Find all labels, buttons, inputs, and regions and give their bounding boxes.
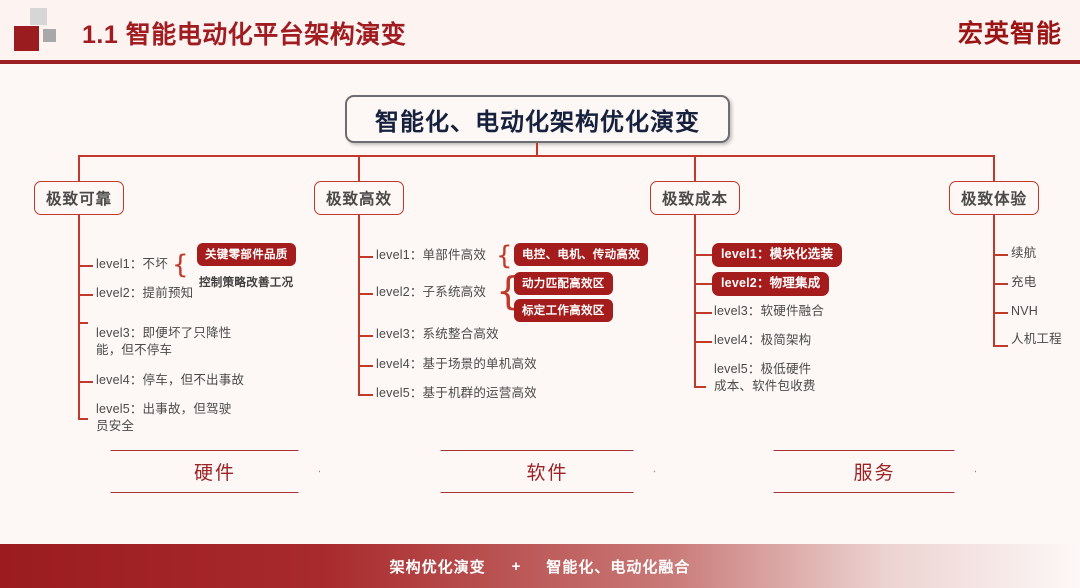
- category-label-experience: 极致体验: [961, 187, 1027, 209]
- category-label-efficiency: 极致高效: [326, 187, 392, 209]
- category-label-reliability: 极致可靠: [46, 187, 112, 209]
- root-title-label: 智能化、电动化架构优化演变: [375, 102, 700, 137]
- tick-x1: [993, 254, 1008, 256]
- annotation-badge-powertrain-zone[interactable]: 动力匹配高效区: [514, 272, 613, 295]
- connector-stem-1: [78, 215, 80, 243]
- level-item-e2[interactable]: level2：子系统高效: [376, 284, 486, 301]
- brace-efficiency-1-icon: {: [496, 243, 513, 269]
- category-box-efficiency[interactable]: 极致高效: [314, 181, 404, 215]
- level-item-c1[interactable]: level1：模块化选装: [712, 243, 842, 267]
- tick-x2: [993, 283, 1008, 285]
- tick-c3: [694, 312, 712, 314]
- category-box-reliability[interactable]: 极致可靠: [34, 181, 124, 215]
- tick-e3: [358, 335, 373, 337]
- tick-r5: [78, 418, 88, 420]
- tick-r2: [78, 294, 93, 296]
- tick-e4: [358, 365, 373, 367]
- tick-e2: [358, 293, 373, 295]
- tick-e1: [358, 256, 373, 258]
- tick-r4: [78, 381, 93, 383]
- level-item-c5[interactable]: level5：极低硬件 成本、软件包收费: [714, 361, 816, 395]
- level-item-r5[interactable]: level5：出事故，但驾驶 员安全: [96, 401, 231, 435]
- tick-c4: [694, 341, 712, 343]
- level-item-e1[interactable]: level1：单部件高效: [376, 247, 486, 264]
- column-spine-reliability: [78, 243, 80, 418]
- category-box-cost[interactable]: 极致成本: [650, 181, 740, 215]
- level-item-r4[interactable]: level4：停车，但不出事故: [96, 372, 244, 389]
- level-item-x4[interactable]: 人机工程: [1011, 331, 1062, 348]
- level-item-r1[interactable]: level1：不坏: [96, 256, 168, 273]
- level-item-e4[interactable]: level4：基于场景的单机高效: [376, 356, 537, 373]
- column-spine-experience: [993, 243, 995, 346]
- category-label-cost: 极致成本: [662, 187, 728, 209]
- tick-x4: [993, 345, 1008, 347]
- level-item-e3[interactable]: level3：系统整合高效: [376, 326, 499, 343]
- connector-drop-4: [993, 155, 995, 182]
- connector-stem-2: [358, 215, 360, 243]
- chevron-hardware[interactable]: 硬件: [110, 450, 320, 493]
- column-spine-efficiency: [358, 243, 360, 395]
- tick-x3: [993, 312, 1008, 314]
- level-item-c2[interactable]: level2：物理集成: [712, 272, 829, 296]
- column-spine-cost: [694, 243, 696, 386]
- tick-c1: [694, 254, 712, 256]
- level-item-c3[interactable]: level3：软硬件融合: [714, 303, 824, 320]
- footer-text-left: 架构优化演变: [390, 556, 486, 577]
- category-box-experience[interactable]: 极致体验: [949, 181, 1039, 215]
- tick-r3: [78, 322, 88, 324]
- brand-logo: 宏英智能: [958, 14, 1062, 50]
- slide-canvas: 1.1 智能电动化平台架构演变 宏英智能 智能化、电动化架构优化演变 极致可靠 …: [0, 0, 1080, 588]
- level-item-x3[interactable]: NVH: [1011, 303, 1038, 320]
- footer-plus-sign: +: [512, 558, 521, 575]
- annotation-badge-calibration-zone[interactable]: 标定工作高效区: [514, 299, 613, 322]
- brace-reliability-icon: {: [172, 252, 189, 278]
- level-item-e5[interactable]: level5：基于机群的运营高效: [376, 385, 537, 402]
- connector-drop-3: [694, 155, 696, 182]
- chevron-label-software: 软件: [526, 458, 568, 485]
- annotation-text-control-strategy: 控制策略改善工况: [199, 274, 293, 290]
- decor-square-red-icon: [14, 26, 39, 51]
- connector-drop-1: [78, 155, 80, 182]
- footer-content: 架构优化演变 + 智能化、电动化融合: [0, 544, 1080, 588]
- connector-stem-4: [993, 215, 995, 243]
- decor-square-light-icon: [30, 8, 47, 25]
- header-divider: [0, 60, 1080, 64]
- connector-stem-3: [694, 215, 696, 243]
- chevron-software[interactable]: 软件: [440, 450, 655, 493]
- decor-square-gray-icon: [43, 29, 56, 42]
- slide-header: 1.1 智能电动化平台架构演变 宏英智能: [0, 0, 1080, 62]
- tick-e5: [358, 394, 373, 396]
- chevron-service[interactable]: 服务: [773, 450, 976, 493]
- level-item-x1[interactable]: 续航: [1011, 245, 1036, 262]
- connector-bus: [78, 155, 994, 157]
- slide-footer: 架构优化演变 + 智能化、电动化融合: [0, 544, 1080, 588]
- page-title: 1.1 智能电动化平台架构演变: [82, 15, 406, 51]
- level-item-x2[interactable]: 充电: [1011, 274, 1036, 291]
- chevron-label-hardware: 硬件: [194, 458, 236, 485]
- tick-r1: [78, 265, 93, 267]
- connector-drop-2: [358, 155, 360, 182]
- level-item-r2[interactable]: level2：提前预知: [96, 285, 193, 302]
- level-item-c4[interactable]: level4：极简架构: [714, 332, 811, 349]
- chevron-label-service: 服务: [853, 458, 895, 485]
- annotation-badge-key-parts[interactable]: 关键零部件品质: [197, 243, 296, 266]
- level-item-r3[interactable]: level3：即便坏了只降性 能，但不停车: [96, 325, 231, 359]
- root-title-box: 智能化、电动化架构优化演变: [345, 95, 730, 143]
- tick-c5: [694, 386, 706, 388]
- annotation-badge-motor-efficiency[interactable]: 电控、电机、传动高效: [514, 243, 648, 266]
- footer-text-right: 智能化、电动化融合: [546, 556, 690, 577]
- tick-c2: [694, 283, 712, 285]
